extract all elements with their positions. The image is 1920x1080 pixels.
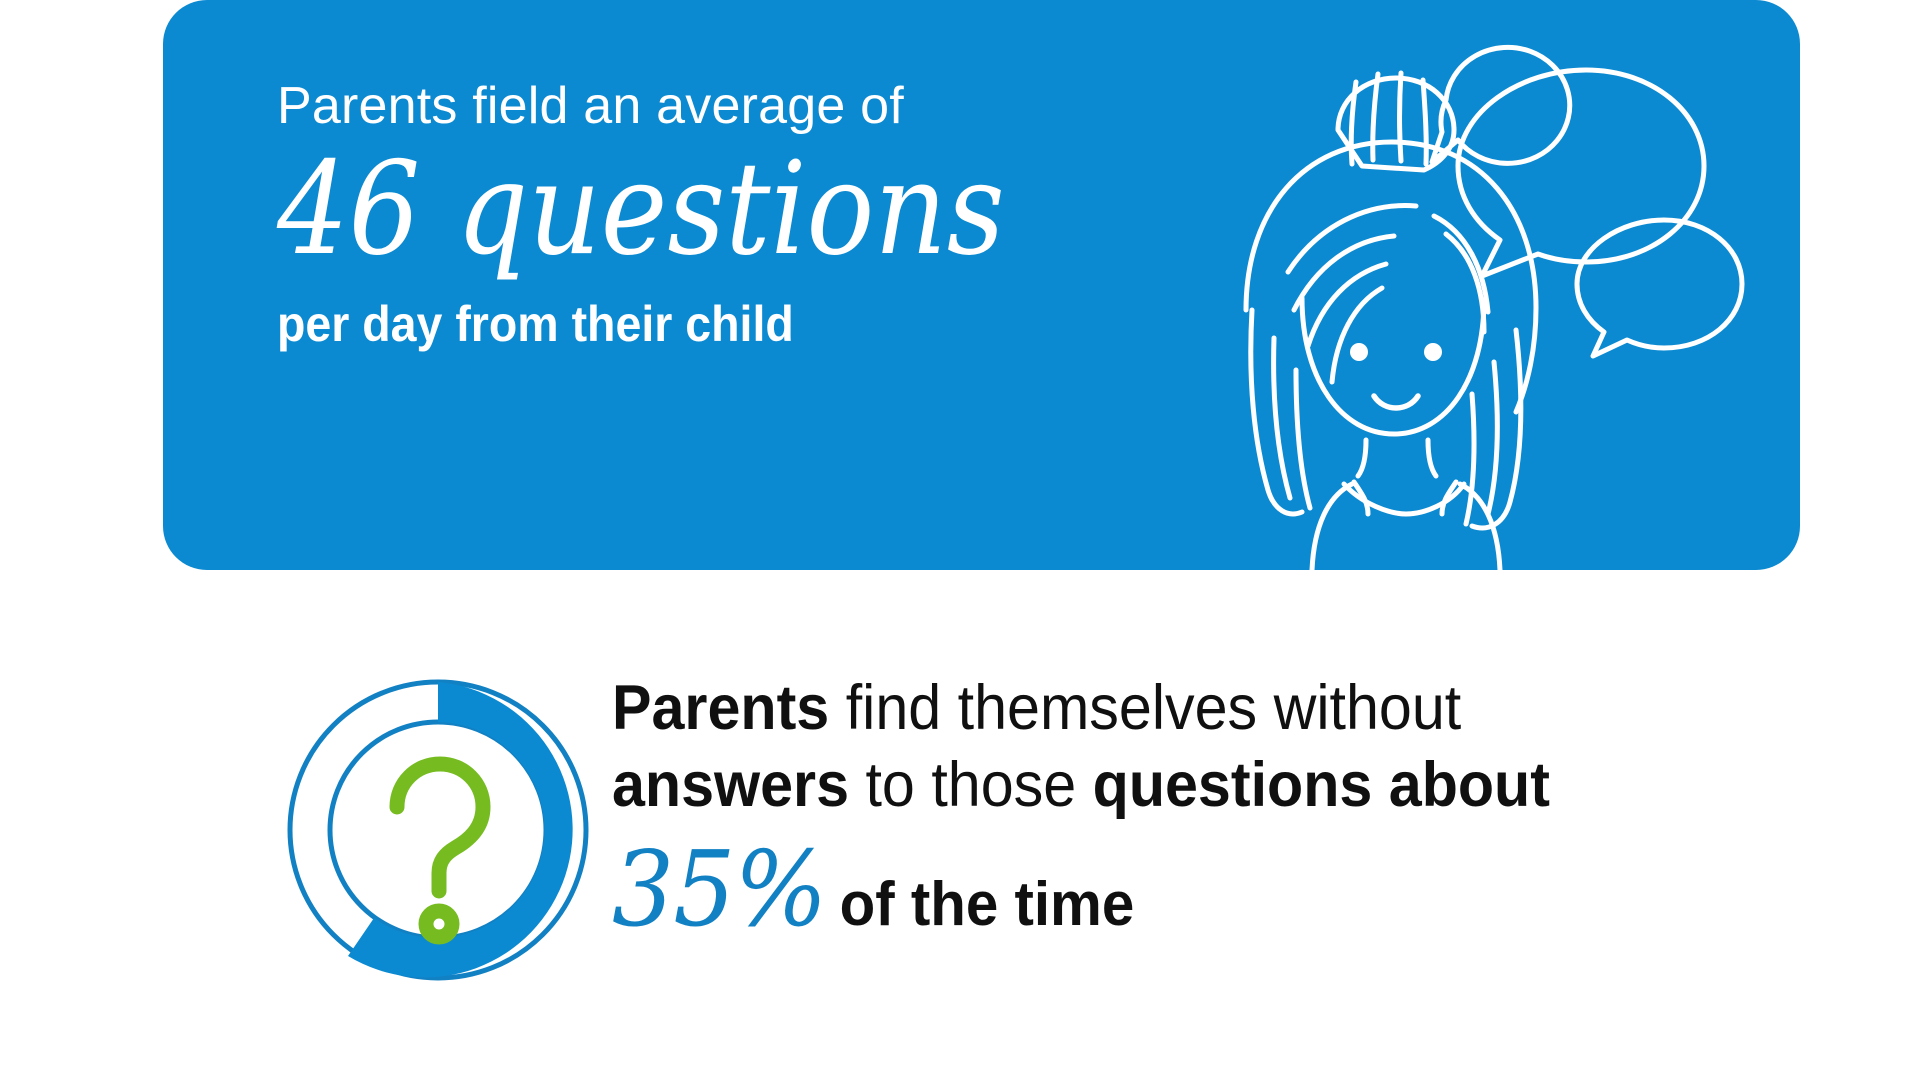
stat-copy-line-2-bold: answers [612, 750, 849, 820]
stat-copy-line-3: 35%of the time [612, 830, 1655, 950]
hero-text-block: Parents field an average of 46 questions… [277, 78, 1177, 352]
percent-suffix: of the time [840, 870, 1135, 939]
hero-headline-lead: Parents field an average of [277, 78, 1177, 135]
stat-copy-line-2-mid: to those [849, 750, 1093, 820]
hero-headline-tail: per day from their child [277, 297, 1114, 352]
girl-head-icon [1246, 142, 1536, 434]
girl-smile-icon [1374, 396, 1418, 408]
girl-with-speech-bubbles-illustration [1116, 10, 1756, 570]
stat-copy-line-2: answers to those questions about [612, 747, 1655, 824]
question-mark-icon [397, 764, 483, 937]
hero-card: Parents field an average of 46 questions… [163, 0, 1800, 570]
stat-copy-line-1-bold: Parents [612, 673, 829, 743]
stat-row: Parents find themselves without answers … [0, 640, 1920, 1040]
stat-copy-line-1: Parents find themselves without [612, 670, 1655, 747]
donut-chart [268, 660, 608, 1000]
girl-eyes-icon [1350, 343, 1442, 361]
speech-bubble-large-icon [1458, 70, 1704, 276]
infographic-page: Parents field an average of 46 questions… [0, 0, 1920, 1080]
percent-value: 35% [612, 828, 826, 950]
stat-copy-line-1-rest: find themselves without [829, 673, 1461, 743]
stat-copy-line-2-bold2: questions about [1093, 750, 1550, 820]
stat-copy-block: Parents find themselves without answers … [612, 670, 1722, 949]
hero-stat-value: 46 questions [277, 141, 1069, 279]
